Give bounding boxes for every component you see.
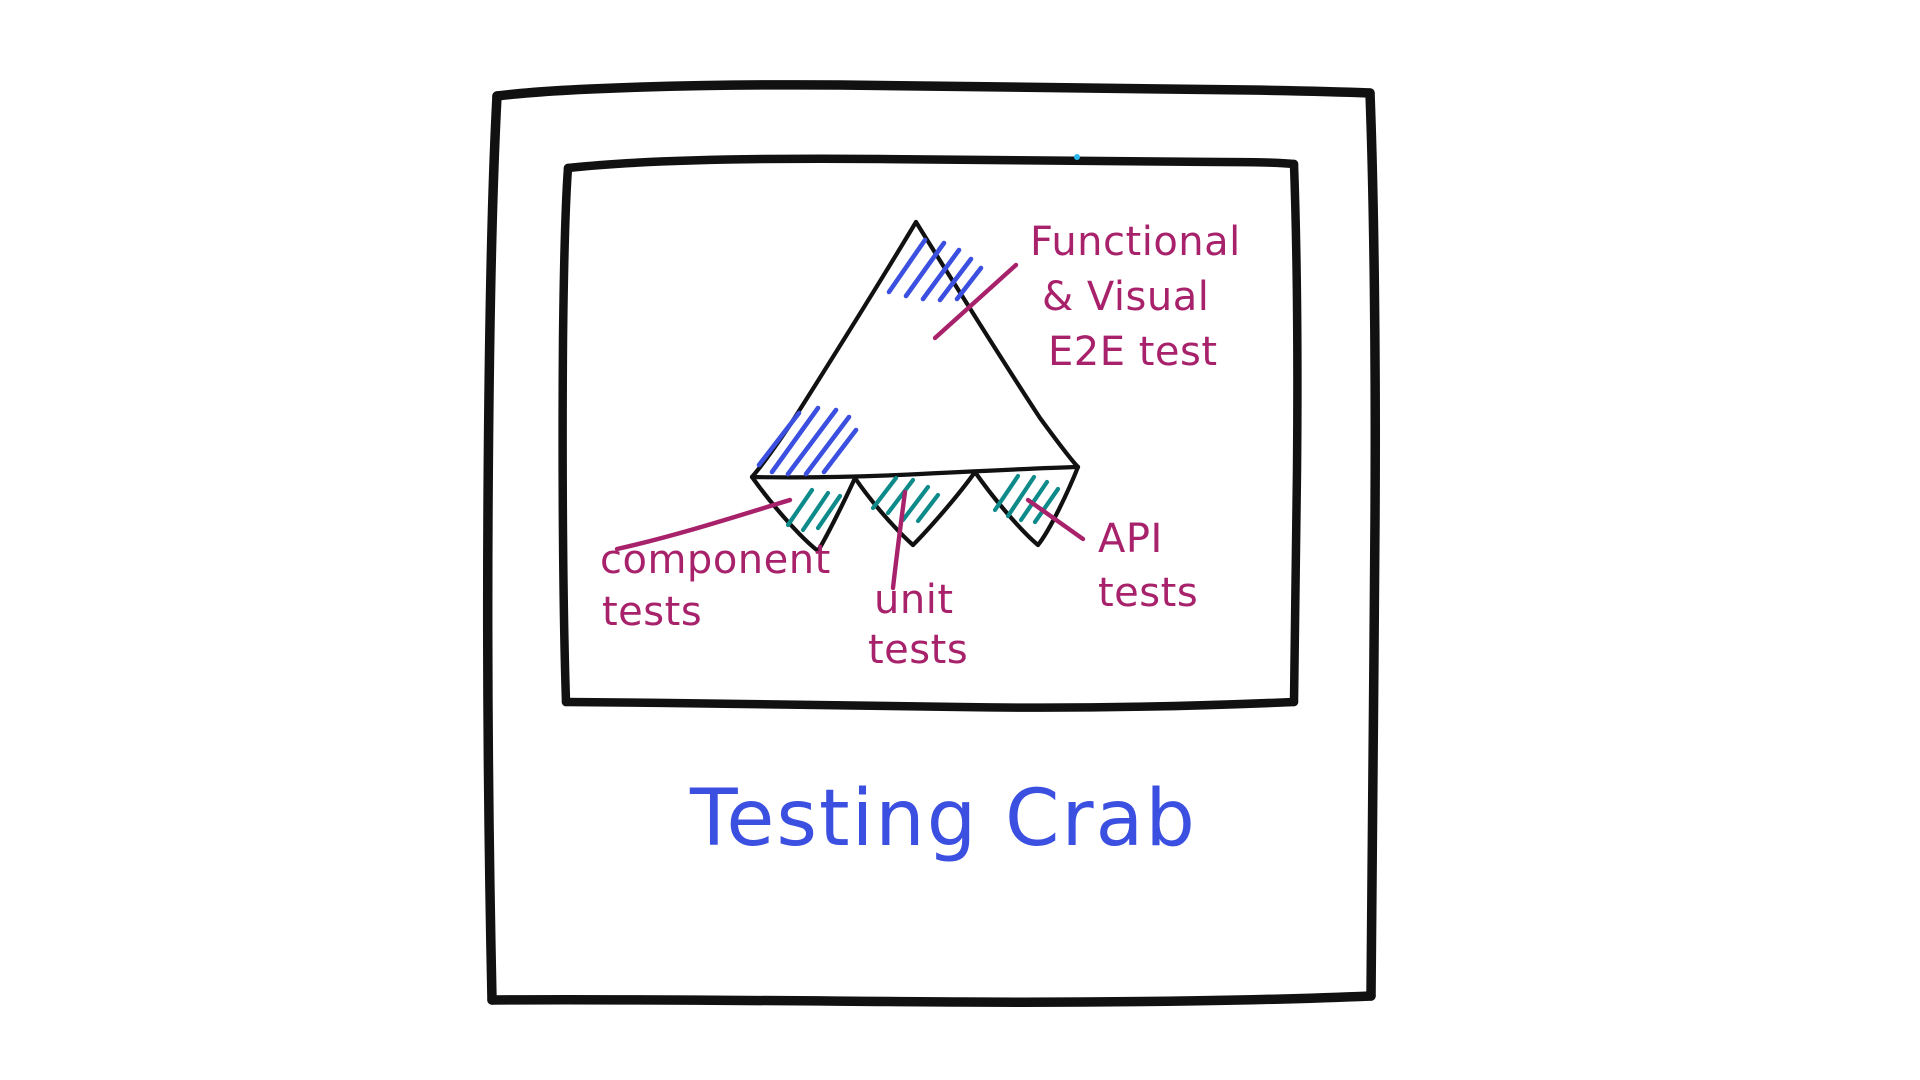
whiteboard-canvas: Functional & Visual E2E test component t…	[0, 0, 1920, 1080]
label-line: component	[600, 537, 831, 583]
hatching-blue-lower	[759, 408, 856, 474]
label-line: tests	[1098, 570, 1198, 616]
label-functional-visual-e2e: Functional & Visual E2E test	[1030, 219, 1241, 375]
label-line: tests	[868, 627, 968, 673]
crab-leg-unit	[855, 472, 975, 545]
label-line: & Visual	[1042, 274, 1209, 320]
crab-leg-api	[975, 467, 1078, 545]
label-line: API	[1098, 516, 1163, 562]
label-line: Functional	[1030, 219, 1241, 265]
sketch-surface: Functional & Visual E2E test component t…	[0, 0, 1920, 1080]
label-unit-tests: unit tests	[868, 577, 968, 673]
sketch-title: Testing Crab	[689, 774, 1197, 864]
label-line: E2E test	[1048, 329, 1218, 375]
label-line: unit	[874, 577, 954, 623]
cyan-dot-artifact	[1074, 154, 1080, 160]
label-api-tests: API tests	[1098, 516, 1198, 616]
label-line: tests	[602, 589, 702, 635]
label-component-tests: component tests	[600, 537, 831, 635]
